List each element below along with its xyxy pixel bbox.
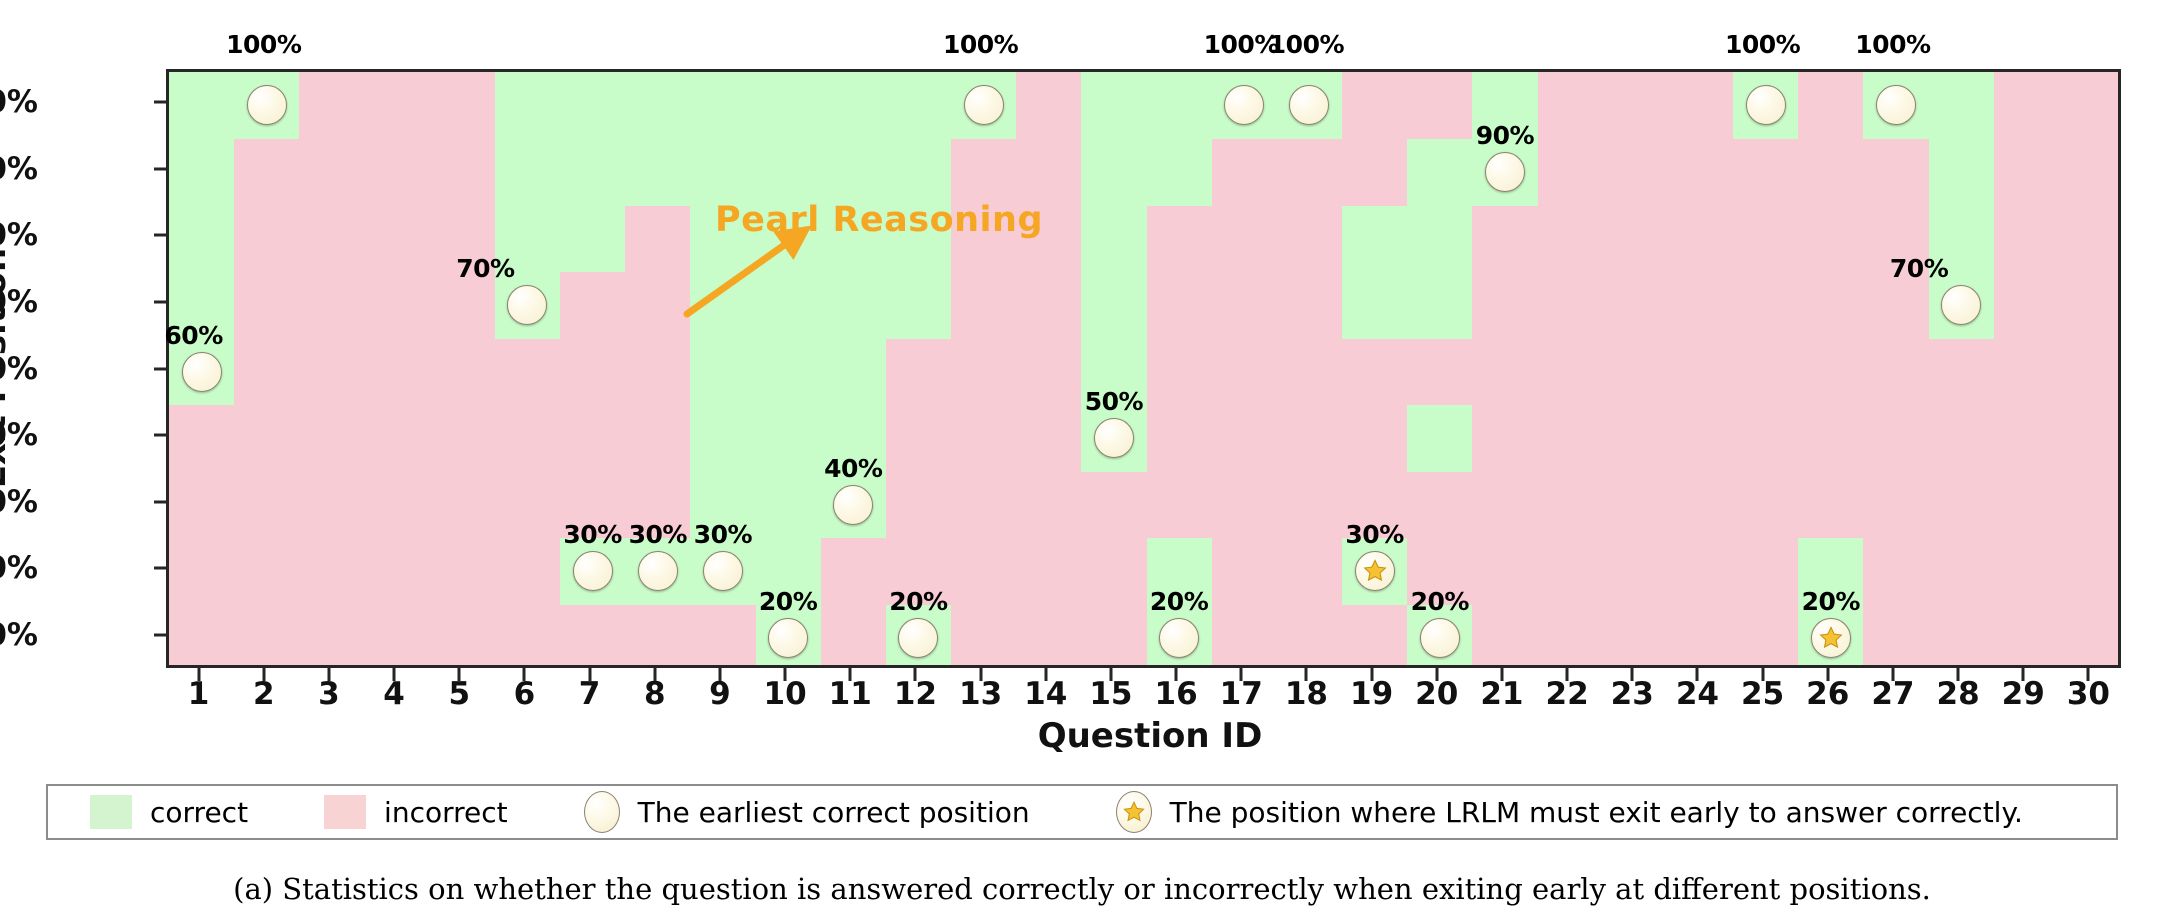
earliest-correct-marker	[182, 352, 222, 392]
heatmap-cell	[1147, 139, 1213, 206]
heatmap-cell	[1798, 405, 1864, 472]
heatmap-cell	[299, 272, 365, 339]
heatmap-cell	[2059, 604, 2118, 665]
heatmap-cell	[1407, 205, 1473, 272]
heatmap-cell	[169, 405, 235, 472]
heatmap-cell	[1342, 205, 1408, 272]
heatmap-cell	[1081, 538, 1147, 605]
plot-area: 60%70%30%30%30%20%40%20%50%20%30%20%90%2…	[166, 69, 2121, 668]
x-tick-mark	[1175, 668, 1178, 681]
earliest-correct-marker	[573, 551, 613, 591]
heatmap-cell	[1016, 72, 1082, 139]
x-tick-label: 9	[709, 676, 731, 712]
heatmap-cell	[1212, 471, 1278, 538]
heatmap-cell	[1016, 538, 1082, 605]
heatmap-cell	[430, 405, 496, 472]
marker-value-label: 70%	[456, 254, 514, 283]
earliest-correct-marker	[964, 85, 1004, 125]
heatmap-cell	[430, 72, 496, 139]
x-tick-mark	[1240, 668, 1243, 681]
marker-value-label: 20%	[1411, 587, 1469, 616]
heatmap-cell	[690, 139, 756, 206]
y-tick-label: 100%	[0, 84, 38, 120]
heatmap-cell	[299, 72, 365, 139]
heatmap-cell	[1277, 471, 1343, 538]
earliest-correct-marker	[898, 618, 938, 658]
heatmap-cell	[951, 272, 1017, 339]
x-tick-label: 1	[188, 676, 210, 712]
legend-label-earliest: The earliest correct position	[638, 796, 1030, 829]
marker-value-label: 70%	[1890, 254, 1948, 283]
heatmap-cell	[1929, 338, 1995, 405]
heatmap-cell	[1668, 471, 1734, 538]
heatmap-cell	[756, 405, 822, 472]
x-tick-mark	[393, 668, 396, 681]
heatmap-cell	[1863, 538, 1929, 605]
heatmap-cell	[1863, 139, 1929, 206]
heatmap-cell	[1016, 272, 1082, 339]
heatmap-cell	[756, 272, 822, 339]
earliest-correct-marker	[1746, 85, 1786, 125]
marker-value-label: 50%	[1085, 387, 1143, 416]
heatmap-cell	[1929, 72, 1995, 139]
x-tick-mark	[1826, 668, 1829, 681]
x-tick-mark	[718, 668, 721, 681]
heatmap-cell	[1603, 405, 1669, 472]
heatmap-cell	[1472, 205, 1538, 272]
heatmap-cell	[560, 72, 626, 139]
heatmap-cell	[1994, 272, 2060, 339]
heatmap-cell	[1994, 139, 2060, 206]
heatmap-cell	[1798, 471, 1864, 538]
heatmap-cell	[495, 139, 561, 206]
heatmap-cell	[1538, 538, 1604, 605]
legend-item-correct: correct	[90, 786, 248, 838]
heatmap-cell	[299, 471, 365, 538]
heatmap-cell-layer	[169, 72, 2118, 665]
heatmap-cell	[1668, 538, 1734, 605]
heatmap-cell	[886, 139, 952, 206]
heatmap-cell	[560, 205, 626, 272]
heatmap-cell	[1603, 139, 1669, 206]
heatmap-cell	[365, 139, 431, 206]
heatmap-cell	[234, 272, 300, 339]
x-tick-label: 23	[1611, 676, 1654, 712]
heatmap-cell	[1798, 139, 1864, 206]
heatmap-cell	[234, 139, 300, 206]
heatmap-cell	[2059, 405, 2118, 472]
heatmap-cell	[1407, 272, 1473, 339]
legend: correct incorrect The earliest correct p…	[46, 784, 2118, 840]
x-tick-label: 25	[1741, 676, 1784, 712]
x-tick-mark	[1631, 668, 1634, 681]
heatmap-cell	[1277, 538, 1343, 605]
heatmap-cell	[1603, 72, 1669, 139]
heatmap-cell	[1538, 471, 1604, 538]
marker-value-label: 20%	[1150, 587, 1208, 616]
heatmap-cell	[495, 538, 561, 605]
heatmap-cell	[1929, 139, 1995, 206]
heatmap-cell	[1081, 471, 1147, 538]
heatmap-cell	[1538, 205, 1604, 272]
heatmap-cell	[430, 139, 496, 206]
x-tick-label: 4	[383, 676, 405, 712]
x-tick-mark	[1044, 668, 1047, 681]
earliest-correct-marker	[1094, 418, 1134, 458]
heatmap-cell	[1342, 272, 1408, 339]
heatmap-cell	[299, 205, 365, 272]
heatmap-cell	[2059, 272, 2118, 339]
legend-label-correct: correct	[150, 796, 248, 829]
figure-root: Exit Position Question ID 20%30%40%50%60…	[0, 0, 2164, 924]
marker-value-label: 30%	[694, 520, 752, 549]
heatmap-cell	[365, 538, 431, 605]
heatmap-cell	[690, 604, 756, 665]
heatmap-cell	[299, 139, 365, 206]
heatmap-cell	[1929, 538, 1995, 605]
heatmap-cell	[1407, 72, 1473, 139]
heatmap-cell	[365, 604, 431, 665]
heatmap-cell	[951, 139, 1017, 206]
heatmap-cell	[1147, 338, 1213, 405]
heatmap-cell	[560, 272, 626, 339]
heatmap-cell	[821, 538, 887, 605]
x-tick-label: 28	[1937, 676, 1980, 712]
heatmap-cell	[365, 205, 431, 272]
heatmap-cell	[1081, 139, 1147, 206]
heatmap-cell	[1081, 72, 1147, 139]
heatmap-cell	[1212, 538, 1278, 605]
heatmap-cell	[495, 471, 561, 538]
y-tick-mark	[154, 101, 166, 104]
legend-item-incorrect: incorrect	[324, 786, 508, 838]
heatmap-cell	[1277, 405, 1343, 472]
marker-value-label: 100%	[226, 30, 301, 59]
y-tick-label: 80%	[0, 217, 38, 253]
heatmap-cell	[1016, 139, 1082, 206]
heatmap-cell	[1538, 405, 1604, 472]
earliest-correct-marker	[1941, 285, 1981, 325]
heatmap-cell	[169, 205, 235, 272]
heatmap-cell	[625, 338, 691, 405]
heatmap-cell	[625, 139, 691, 206]
x-tick-label: 22	[1546, 676, 1589, 712]
heatmap-cell	[1733, 538, 1799, 605]
heatmap-cell	[560, 604, 626, 665]
x-tick-mark	[2022, 668, 2025, 681]
annotation-text: Pearl Reasoning	[715, 200, 1043, 240]
x-tick-mark	[849, 668, 852, 681]
x-tick-label: 17	[1220, 676, 1263, 712]
heatmap-cell	[1798, 272, 1864, 339]
heatmap-cell	[690, 338, 756, 405]
heatmap-cell	[1668, 405, 1734, 472]
heatmap-cell	[1212, 272, 1278, 339]
x-tick-label: 2	[253, 676, 275, 712]
heatmap-cell	[430, 538, 496, 605]
heatmap-cell	[1538, 338, 1604, 405]
heatmap-cell	[821, 338, 887, 405]
heatmap-cell	[1863, 604, 1929, 665]
heatmap-cell	[1668, 338, 1734, 405]
x-tick-mark	[653, 668, 656, 681]
earliest-correct-marker	[1159, 618, 1199, 658]
heatmap-cell	[1147, 205, 1213, 272]
heatmap-cell	[1994, 538, 2060, 605]
heatmap-cell	[1863, 405, 1929, 472]
x-axis-label: Question ID	[1038, 716, 1263, 756]
heatmap-cell	[1407, 139, 1473, 206]
heatmap-cell	[1472, 338, 1538, 405]
heatmap-cell	[1277, 604, 1343, 665]
y-tick-label: 50%	[0, 417, 38, 453]
heatmap-cell	[821, 139, 887, 206]
heatmap-cell	[560, 405, 626, 472]
heatmap-cell	[1538, 139, 1604, 206]
heatmap-cell	[234, 604, 300, 665]
x-tick-mark	[1696, 668, 1699, 681]
x-tick-mark	[1500, 668, 1503, 681]
heatmap-cell	[756, 338, 822, 405]
heatmap-cell	[1603, 338, 1669, 405]
heatmap-cell	[1733, 338, 1799, 405]
x-tick-label: 19	[1350, 676, 1393, 712]
earliest-correct-marker	[1420, 618, 1460, 658]
heatmap-cell	[1472, 538, 1538, 605]
heatmap-cell	[169, 72, 235, 139]
x-tick-label: 20	[1415, 676, 1458, 712]
y-tick-label: 90%	[0, 151, 38, 187]
x-tick-label: 10	[764, 676, 807, 712]
earliest-correct-marker	[1224, 85, 1264, 125]
y-tick-mark	[154, 234, 166, 237]
x-tick-mark	[1305, 668, 1308, 681]
heatmap-cell	[625, 205, 691, 272]
heatmap-cell	[756, 471, 822, 538]
heatmap-cell	[1733, 139, 1799, 206]
earliest-correct-marker	[703, 551, 743, 591]
heatmap-cell	[1668, 139, 1734, 206]
x-tick-mark	[197, 668, 200, 681]
x-tick-mark	[914, 668, 917, 681]
legend-item-earliest: The earliest correct position	[584, 786, 1030, 838]
heatmap-cell	[1016, 604, 1082, 665]
heatmap-cell	[690, 272, 756, 339]
heatmap-cell	[299, 538, 365, 605]
marker-value-label: 20%	[1802, 587, 1860, 616]
correct-swatch-icon	[90, 795, 132, 829]
x-tick-label: 3	[318, 676, 340, 712]
heatmap-cell	[560, 338, 626, 405]
heatmap-cell	[365, 405, 431, 472]
y-tick-label: 70%	[0, 284, 38, 320]
marker-value-label: 20%	[759, 587, 817, 616]
earliest-correct-marker	[507, 285, 547, 325]
heatmap-cell	[1472, 272, 1538, 339]
x-tick-label: 5	[448, 676, 470, 712]
heatmap-cell	[886, 471, 952, 538]
heatmap-cell	[1994, 604, 2060, 665]
heatmap-cell	[560, 139, 626, 206]
x-tick-mark	[262, 668, 265, 681]
heatmap-cell	[1994, 338, 2060, 405]
marker-value-label: 100%	[1725, 30, 1800, 59]
heatmap-cell	[365, 272, 431, 339]
heatmap-cell	[495, 72, 561, 139]
heatmap-cell	[169, 538, 235, 605]
heatmap-cell	[299, 604, 365, 665]
heatmap-cell	[2059, 139, 2118, 206]
x-tick-mark	[1761, 668, 1764, 681]
x-tick-mark	[1566, 668, 1569, 681]
heatmap-cell	[886, 72, 952, 139]
heatmap-cell	[1147, 272, 1213, 339]
marker-value-label: 20%	[889, 587, 947, 616]
heatmap-cell	[1538, 604, 1604, 665]
x-tick-label: 8	[644, 676, 666, 712]
heatmap-cell	[495, 604, 561, 665]
heatmap-cell	[1994, 471, 2060, 538]
heatmap-cell	[1212, 405, 1278, 472]
legend-item-star: The position where LRLM must exit early …	[1116, 786, 2023, 838]
x-tick-mark	[2087, 668, 2090, 681]
heatmap-cell	[821, 272, 887, 339]
heatmap-cell	[1733, 405, 1799, 472]
star-marker	[1811, 618, 1851, 658]
heatmap-cell	[234, 538, 300, 605]
marker-value-label: 100%	[1269, 30, 1344, 59]
heatmap-cell	[1994, 72, 2060, 139]
heatmap-cell	[1798, 205, 1864, 272]
heatmap-cell	[234, 405, 300, 472]
heatmap-cell	[365, 338, 431, 405]
heatmap-cell	[365, 72, 431, 139]
x-tick-mark	[458, 668, 461, 681]
earliest-correct-marker	[1876, 85, 1916, 125]
y-tick-label: 30%	[0, 550, 38, 586]
heatmap-cell	[1538, 272, 1604, 339]
heatmap-cell	[1081, 272, 1147, 339]
heatmap-cell	[169, 604, 235, 665]
heatmap-cell	[1733, 205, 1799, 272]
marker-value-label: 100%	[1204, 30, 1279, 59]
heatmap-cell	[1668, 72, 1734, 139]
heatmap-cell	[1342, 139, 1408, 206]
heatmap-cell	[1603, 471, 1669, 538]
heatmap-cell	[1929, 405, 1995, 472]
earliest-correct-marker	[638, 551, 678, 591]
heatmap-cell	[951, 604, 1017, 665]
heatmap-cell	[1668, 205, 1734, 272]
y-tick-label: 40%	[0, 484, 38, 520]
y-tick-mark	[154, 300, 166, 303]
marker-value-label: 100%	[1855, 30, 1930, 59]
earliest-correct-marker	[1289, 85, 1329, 125]
heatmap-cell	[169, 471, 235, 538]
heatmap-cell	[1798, 72, 1864, 139]
x-tick-label: 14	[1024, 676, 1067, 712]
heatmap-cell	[1081, 205, 1147, 272]
heatmap-cell	[1603, 604, 1669, 665]
heatmap-cell	[1668, 272, 1734, 339]
heatmap-cell	[365, 471, 431, 538]
x-tick-label: 7	[579, 676, 601, 712]
circle-marker-icon	[584, 791, 620, 833]
heatmap-cell	[299, 405, 365, 472]
x-tick-label: 16	[1155, 676, 1198, 712]
heatmap-cell	[1472, 471, 1538, 538]
marker-value-label: 90%	[1476, 121, 1534, 150]
heatmap-cell	[1603, 205, 1669, 272]
heatmap-cell	[430, 604, 496, 665]
y-tick-mark	[154, 167, 166, 170]
heatmap-cell	[951, 338, 1017, 405]
heatmap-cell	[234, 205, 300, 272]
x-tick-mark	[1109, 668, 1112, 681]
heatmap-cell	[1407, 471, 1473, 538]
incorrect-swatch-icon	[324, 795, 366, 829]
heatmap-cell	[1342, 338, 1408, 405]
x-tick-label: 15	[1089, 676, 1132, 712]
heatmap-cell	[234, 471, 300, 538]
heatmap-cell	[299, 338, 365, 405]
heatmap-cell	[2059, 205, 2118, 272]
heatmap-cell	[1342, 405, 1408, 472]
x-tick-label: 21	[1480, 676, 1523, 712]
heatmap-cell	[1342, 604, 1408, 665]
earliest-correct-marker	[247, 85, 287, 125]
heatmap-cell	[951, 538, 1017, 605]
x-tick-mark	[327, 668, 330, 681]
marker-value-label: 60%	[164, 321, 222, 350]
marker-value-label: 100%	[943, 30, 1018, 59]
heatmap-cell	[234, 338, 300, 405]
x-tick-label: 12	[894, 676, 937, 712]
heatmap-cell	[430, 471, 496, 538]
marker-value-label: 30%	[563, 520, 621, 549]
heatmap-cell	[690, 405, 756, 472]
heatmap-cell	[1212, 139, 1278, 206]
heatmap-cell	[1603, 538, 1669, 605]
heatmap-cell	[1081, 604, 1147, 665]
x-tick-mark	[523, 668, 526, 681]
heatmap-cell	[756, 72, 822, 139]
star-marker	[1355, 551, 1395, 591]
heatmap-cell	[951, 405, 1017, 472]
heatmap-cell	[2059, 538, 2118, 605]
heatmap-cell	[1016, 405, 1082, 472]
heatmap-cell	[1733, 471, 1799, 538]
star-marker-icon	[1116, 791, 1152, 833]
heatmap-cell	[1538, 72, 1604, 139]
heatmap-cell	[1994, 205, 2060, 272]
x-tick-mark	[1435, 668, 1438, 681]
heatmap-cell	[1472, 405, 1538, 472]
y-tick-label: 60%	[0, 351, 38, 387]
marker-value-label: 40%	[824, 454, 882, 483]
x-tick-mark	[1370, 668, 1373, 681]
x-tick-label: 18	[1285, 676, 1328, 712]
heatmap-cell	[2059, 338, 2118, 405]
x-tick-label: 6	[514, 676, 536, 712]
heatmap-cell	[1277, 272, 1343, 339]
heatmap-cell	[495, 338, 561, 405]
x-tick-mark	[588, 668, 591, 681]
heatmap-cell	[625, 272, 691, 339]
heatmap-cell	[625, 405, 691, 472]
heatmap-cell	[1798, 338, 1864, 405]
heatmap-cell	[1472, 604, 1538, 665]
